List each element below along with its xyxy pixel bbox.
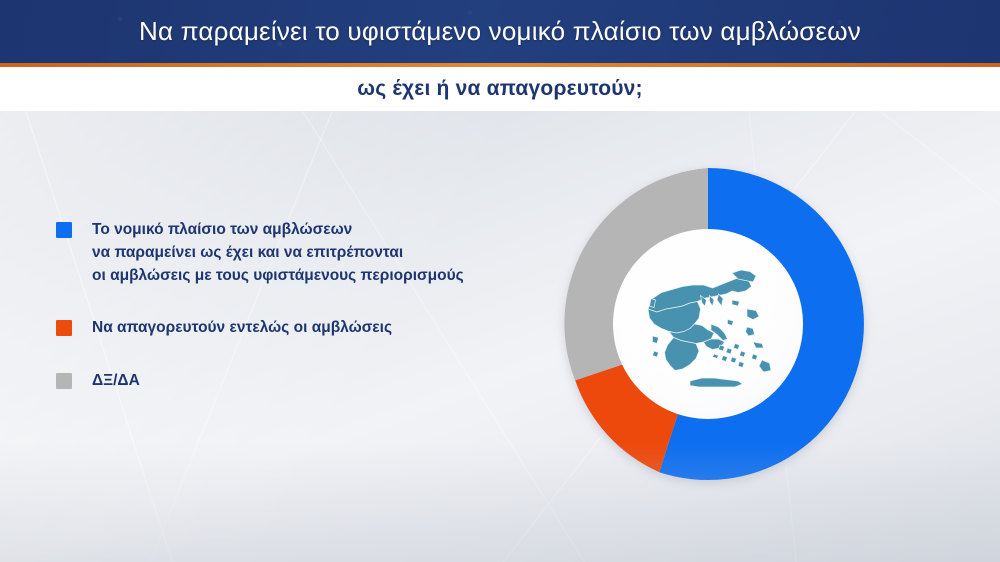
greece-map-icon: [633, 249, 783, 399]
chart-legend: Το νομικό πλαίσιο των αμβλώσεων να παραμ…: [56, 219, 556, 393]
legend-swatch-gray: [56, 373, 72, 389]
slide-root: Να παραμείνει το υφιστάμενο νομικό πλαίσ…: [0, 0, 1000, 562]
legend-item-ban-abortions[interactable]: Να απαγορευτούν εντελώς οι αμβλώσεις: [56, 317, 556, 340]
page-subtitle: ως έχει ή να απαγορευτούν;: [357, 77, 643, 101]
header-band: Να παραμείνει το υφιστάμενο νομικό πλαίσ…: [0, 0, 1000, 63]
legend-swatch-orange: [56, 320, 72, 336]
donut-chart: 79,9 11,2 8,9: [552, 168, 864, 480]
page-title: Να παραμείνει το υφιστάμενο νομικό πλαίσ…: [139, 16, 861, 47]
donut-center-hole: [613, 229, 803, 419]
legend-label-dont-know: ΔΞ/ΔΑ: [92, 370, 140, 393]
legend-label-ban-abortions: Να απαγορευτούν εντελώς οι αμβλώσεις: [92, 317, 392, 340]
chart-canvas: Το νομικό πλαίσιο των αμβλώσεων να παραμ…: [0, 111, 1000, 562]
legend-label-keep-framework: Το νομικό πλαίσιο των αμβλώσεων να παραμ…: [92, 219, 464, 287]
legend-item-keep-framework[interactable]: Το νομικό πλαίσιο των αμβλώσεων να παραμ…: [56, 219, 556, 287]
subtitle-strip: ως έχει ή να απαγορευτούν;: [0, 67, 1000, 111]
legend-item-dont-know[interactable]: ΔΞ/ΔΑ: [56, 370, 556, 393]
legend-swatch-blue: [56, 222, 72, 238]
